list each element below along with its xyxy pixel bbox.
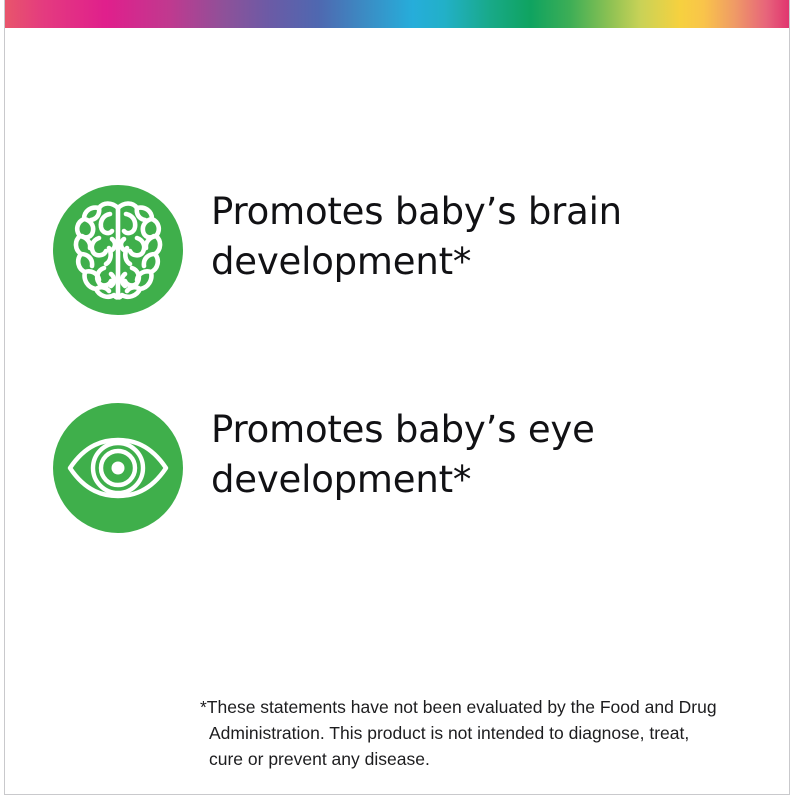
- benefits-list: Promotes baby’s brain development*: [0, 170, 800, 606]
- brain-icon-badge: [53, 185, 183, 315]
- benefit-item-brain: Promotes baby’s brain development*: [0, 170, 800, 388]
- benefit-label-eye: Promotes baby’s eye development*: [211, 405, 671, 505]
- brain-icon: [69, 198, 167, 302]
- benefit-item-eye: Promotes baby’s eye development*: [0, 388, 800, 606]
- eye-icon-badge: [53, 403, 183, 533]
- fda-disclaimer-footnote: *These statements have not been evaluate…: [200, 694, 720, 772]
- benefit-label-brain: Promotes baby’s brain development*: [211, 187, 671, 287]
- eye-icon: [66, 436, 170, 500]
- rainbow-gradient-bar: [4, 0, 790, 28]
- product-benefits-panel: Promotes baby’s brain development*: [0, 0, 800, 800]
